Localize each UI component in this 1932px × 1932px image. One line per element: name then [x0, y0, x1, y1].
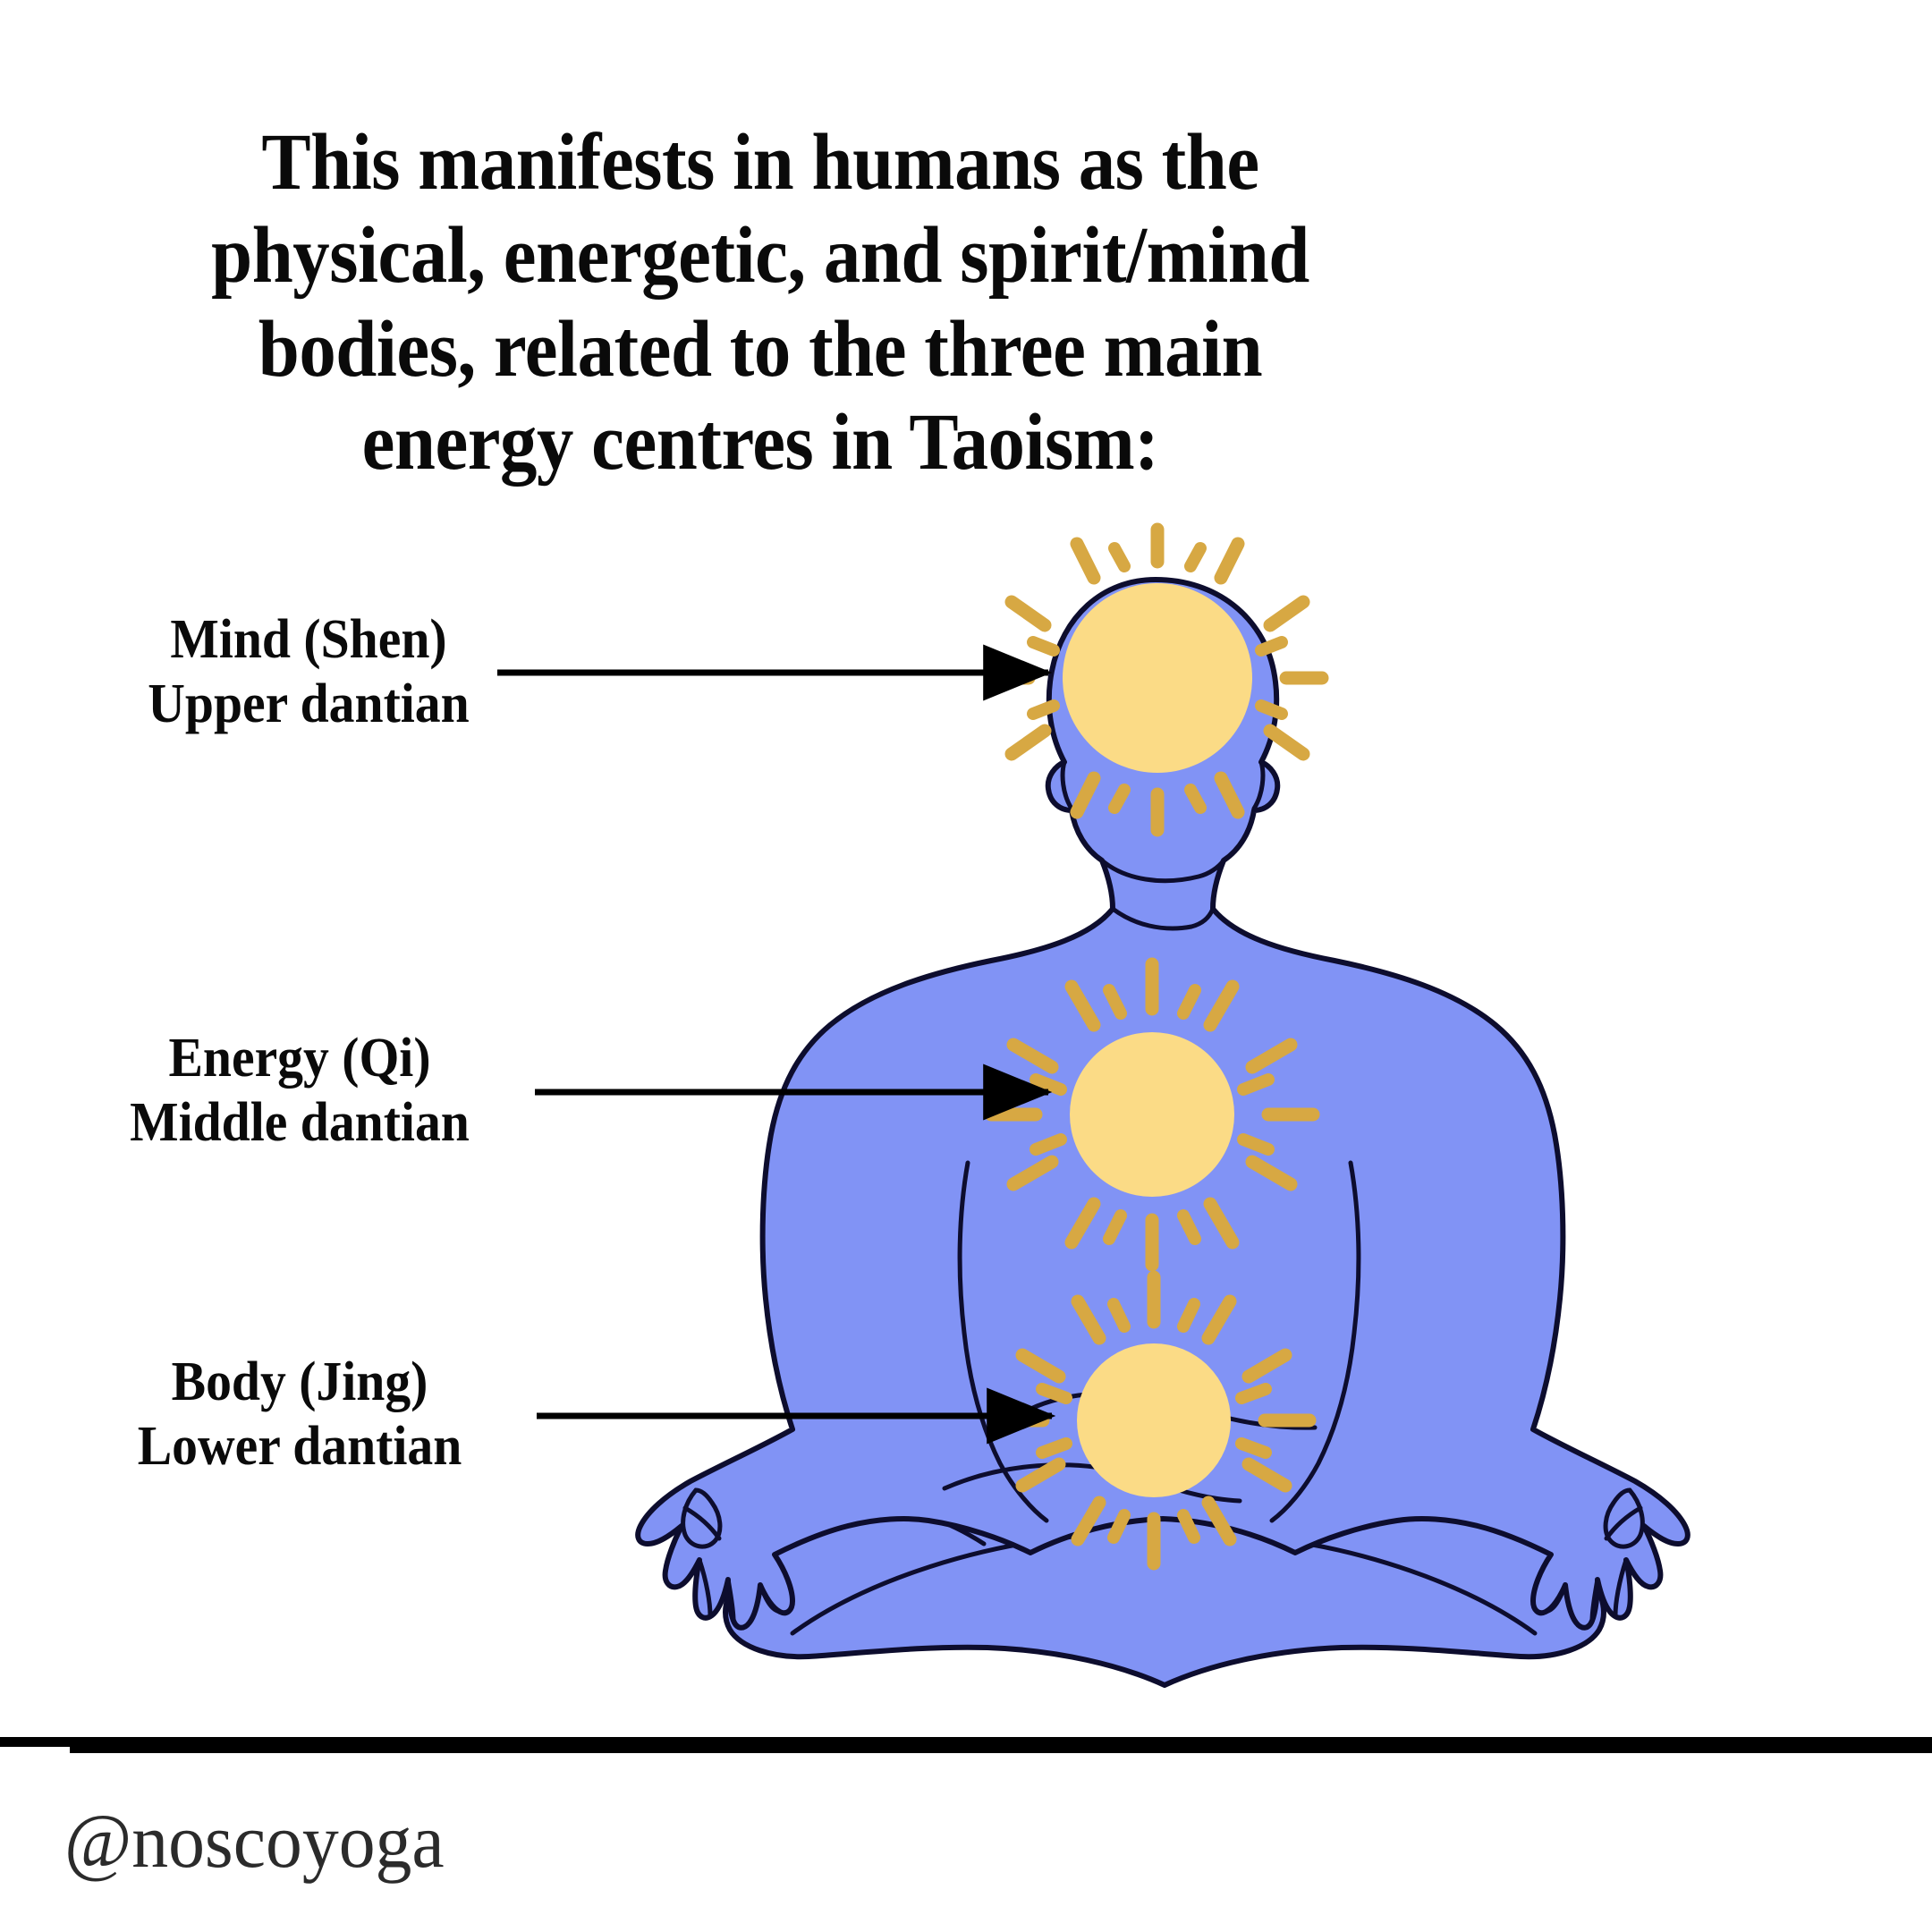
lower-dantian-sun [1077, 1343, 1231, 1497]
footer-divider-accent [70, 1744, 1932, 1753]
meditating-figure-illustration [0, 0, 1932, 1932]
upper-dantian-sun [1063, 583, 1252, 773]
account-handle: @noscoyoga [64, 1796, 445, 1885]
poster-canvas: This manifests in humans as the physical… [0, 0, 1932, 1932]
middle-dantian-sun [1070, 1032, 1234, 1197]
